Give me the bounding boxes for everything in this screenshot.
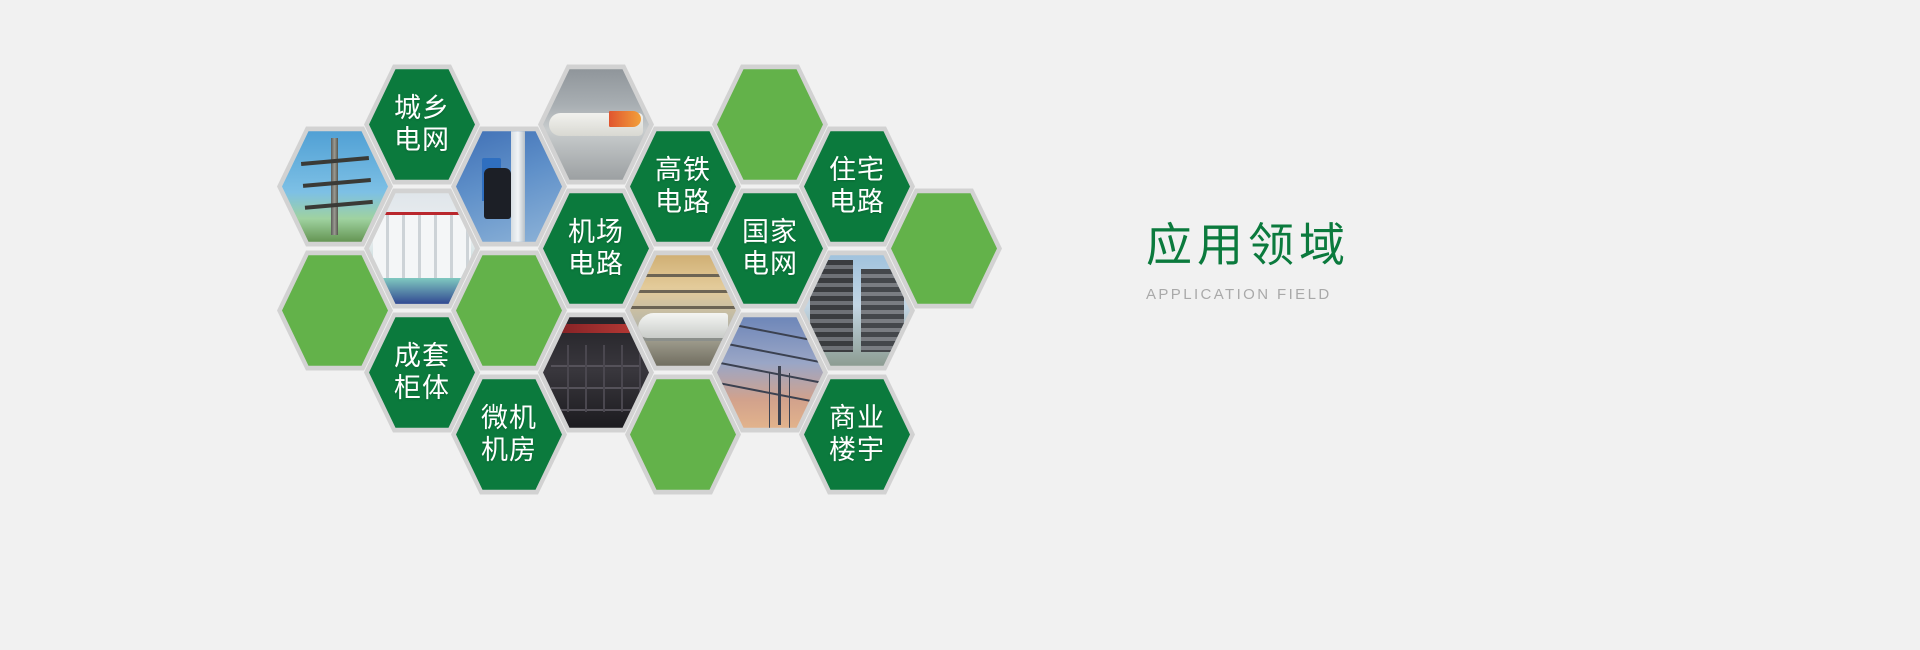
cabinet-photo <box>369 191 475 306</box>
hex-photo-cabinet-photo <box>369 191 475 306</box>
hex-fill-filler-center-mid <box>456 253 562 368</box>
hex-fill-airport-circuit: 机场 电路 <box>543 191 649 306</box>
hex-fill-filler-left-mid <box>282 253 388 368</box>
hex-label-state-grid: 国家 电网 <box>742 217 798 280</box>
panel-photo <box>543 315 649 430</box>
hex-photo-train-photo <box>630 253 736 368</box>
hex-fill-residential-circuit: 住宅 电路 <box>804 129 910 244</box>
hex-fill-high-speed-rail: 高铁 电路 <box>630 129 736 244</box>
hex-label-urban-rural-grid: 城乡 电网 <box>394 93 450 156</box>
hex-label-assembled-cabinet: 成套 柜体 <box>394 341 450 404</box>
hex-photo-power-pole-photo <box>282 129 388 244</box>
hex-fill-state-grid: 国家 电网 <box>717 191 823 306</box>
hex-label-microcomputer-room: 微机 机房 <box>481 403 537 466</box>
hex-photo-relay-panel-photo <box>543 315 649 430</box>
hex-photo-worker-photo <box>456 129 562 244</box>
hex-fill-filler-right-top <box>891 191 997 306</box>
hex-fill-residential-filler <box>717 67 823 182</box>
worker-photo <box>456 129 562 244</box>
hex-fill-commercial-building: 商业 楼宇 <box>804 377 910 492</box>
airport-photo <box>543 67 649 182</box>
hex-label-commercial-building: 商业 楼宇 <box>829 403 885 466</box>
pole-photo <box>282 129 388 244</box>
hex-fill-assembled-cabinet: 成套 柜体 <box>369 315 475 430</box>
pylon-photo <box>717 315 823 430</box>
section-heading: 应用领域 APPLICATION FIELD <box>1146 222 1566 303</box>
train-photo <box>630 253 736 368</box>
hex-fill-microcomputer-room: 微机 机房 <box>456 377 562 492</box>
hex-photo-city-photo <box>804 253 910 368</box>
hex-photo-airport-photo <box>543 67 649 182</box>
hex-photo-pylon-photo <box>717 315 823 430</box>
hex-fill-filler-bottom-mid <box>630 377 736 492</box>
hex-fill-urban-rural-grid: 城乡 电网 <box>369 67 475 182</box>
page-title: 应用领域 <box>1146 222 1566 268</box>
application-field-banner: 城乡 电网高铁 电路住宅 电路机场 电路国家 电网成套 柜体微机 机房商业 楼宇… <box>0 0 1920 650</box>
hex-label-high-speed-rail: 高铁 电路 <box>655 155 711 218</box>
page-subtitle: APPLICATION FIELD <box>1146 286 1566 303</box>
hex-label-airport-circuit: 机场 电路 <box>568 217 624 280</box>
hex-label-residential-circuit: 住宅 电路 <box>829 155 885 218</box>
city-photo <box>804 253 910 368</box>
